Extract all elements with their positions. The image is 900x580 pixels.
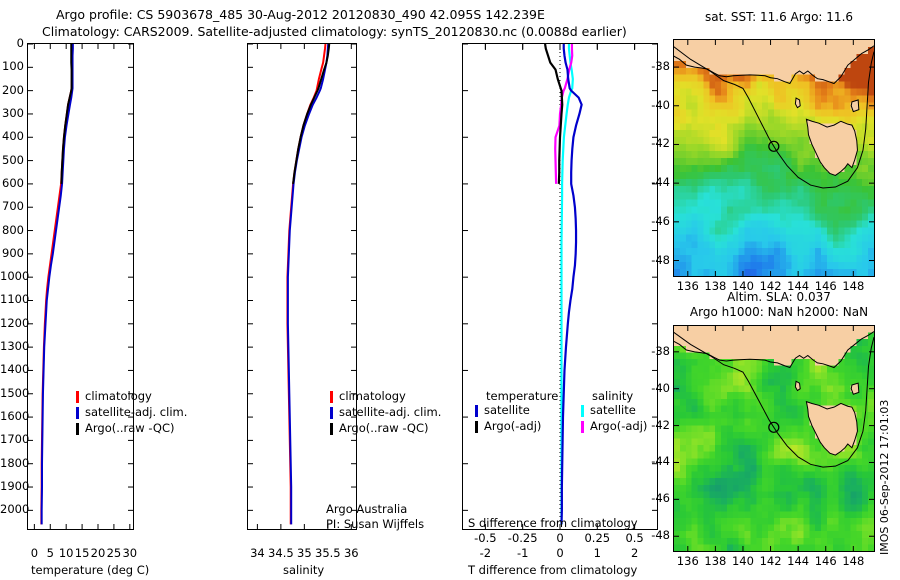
legend-label-satellite-adj-clim: satellite-adj. clim. (85, 405, 187, 419)
axis-tick-label: 1200 (0, 316, 24, 330)
map-axis-tick-label: -42 (644, 418, 670, 432)
axis-tick-label: 36 (344, 546, 359, 560)
axis-tick-label: 0 (0, 36, 24, 50)
axis-tick-label: 20 (91, 546, 106, 560)
legend-label-salinity-argo-adj: Argo(-adj) (590, 419, 647, 433)
legend-swatch-satellite-adj-clim (76, 407, 79, 419)
map-axis-tick-label: 138 (704, 554, 726, 568)
axis-tick-label: 25 (107, 546, 122, 560)
axis-tick-label: 300 (0, 106, 24, 120)
legend-label-salinity-satellite: satellite (590, 403, 636, 417)
map-axis-tick-label: 146 (815, 554, 837, 568)
axis-tick-label: 0 (556, 546, 563, 560)
legend-swatch-argo-raw-qc (330, 423, 333, 435)
axis-tick-label: 2000 (0, 502, 24, 516)
axis-tick-label: 900 (0, 246, 24, 260)
legend-swatch-salinity-satellite (581, 405, 584, 417)
map-axis-tick-label: -40 (644, 98, 670, 112)
map-sla-title-line1: Altim. SLA: 0.037 (673, 290, 885, 304)
axis-tick-label: 100 (0, 59, 24, 73)
map-axis-tick-label: -40 (644, 381, 670, 395)
figure-title-line1: Argo profile: CS 5903678_485 30-Aug-2012… (56, 7, 545, 22)
axis-tick-label: 200 (0, 83, 24, 97)
legend-label-temperature-satellite: satellite (484, 403, 530, 417)
legend-label-temperature-argo-adj: Argo(-adj) (484, 419, 541, 433)
axis-tick-label: 0 (556, 531, 563, 545)
imos-timestamp-footer: IMOS 06-Sep-2012 17:01:03 (878, 385, 891, 555)
map-axis-tick-label: 142 (760, 554, 782, 568)
axis-tick-label: 35 (297, 546, 312, 560)
axis-tick-label: 1500 (0, 386, 24, 400)
axis-tick-label: 1800 (0, 456, 24, 470)
axis-tick-label: 1100 (0, 292, 24, 306)
axis-tick-label: -0.5 (474, 531, 496, 545)
axis-tick-label: 2 (631, 546, 638, 560)
legend-swatch-temperature-argo-adj (475, 421, 478, 433)
axis-tick-label: 1 (594, 546, 601, 560)
map-axis-tick-label: 144 (787, 554, 809, 568)
axis-tick-label: 10 (59, 546, 74, 560)
legend-swatch-salinity-argo-adj (581, 421, 584, 433)
map-axis-tick-label: -44 (644, 175, 670, 189)
temperature-x-axis-label: temperature (deg C) (31, 563, 149, 577)
axis-tick-label: 1600 (0, 409, 24, 423)
legend-swatch-climatology (330, 391, 333, 403)
axis-tick-label: 5 (47, 546, 54, 560)
map-axis-tick-label: -48 (644, 528, 670, 542)
axis-tick-label: -1 (517, 546, 528, 560)
axis-tick-label: -2 (480, 546, 491, 560)
map-axis-tick-label: -48 (644, 253, 670, 267)
axis-tick-label: 0.5 (625, 531, 643, 545)
axis-tick-label: 500 (0, 153, 24, 167)
salinity-profile-panel (247, 43, 357, 530)
axis-tick-label: 35.5 (315, 546, 341, 560)
axis-tick-label: 400 (0, 129, 24, 143)
map-axis-tick-label: -38 (644, 344, 670, 358)
legend-swatch-argo-raw-qc (76, 423, 79, 435)
axis-tick-label: 1000 (0, 269, 24, 283)
salinity-profile-plot (248, 44, 356, 529)
legend-swatch-satellite-adj-clim (330, 407, 333, 419)
map-sst-raster (674, 40, 874, 276)
difference-bottom-axis-label: T difference from climatology (468, 563, 637, 577)
map-axis-tick-label: -42 (644, 136, 670, 150)
axis-tick-label: 0 (31, 546, 38, 560)
map-sla-raster (674, 326, 874, 551)
map-axis-tick-label: -44 (644, 454, 670, 468)
axis-tick-label: 600 (0, 176, 24, 190)
axis-tick-label: 1400 (0, 362, 24, 376)
legend-swatch-temperature-satellite (475, 405, 478, 417)
legend-label-argo-raw-qc: Argo(..raw -QC) (85, 421, 175, 435)
legend-label-satellite-adj-clim: satellite-adj. clim. (339, 405, 441, 419)
map-axis-tick-label: -46 (644, 491, 670, 505)
map-axis-tick-label: 140 (732, 554, 754, 568)
axis-tick-label: 34.5 (268, 546, 294, 560)
legend-label-climatology: climatology (85, 389, 152, 403)
legend-swatch-climatology (76, 391, 79, 403)
temperature-profile-panel (27, 43, 134, 530)
difference-legend-temperature: temperature satellite Argo(-adj) (475, 389, 558, 435)
salinity-x-axis-label: salinity (283, 563, 324, 577)
map-sla-panel (673, 325, 875, 552)
map-sla-title-line2: Argo h1000: NaN h2000: NaN (662, 305, 896, 319)
legend-heading-salinity: salinity (592, 389, 633, 403)
figure-root: Argo profile: CS 5903678_485 30-Aug-2012… (0, 0, 900, 580)
legend-label-climatology: climatology (339, 389, 406, 403)
map-axis-tick-label: -38 (644, 59, 670, 73)
axis-tick-label: 30 (122, 546, 137, 560)
attribution-line1: Argo Australia (326, 502, 407, 516)
map-sst-panel (673, 39, 875, 277)
map-axis-tick-label: 148 (842, 554, 864, 568)
map-sst-title: sat. SST: 11.6 Argo: 11.6 (673, 10, 885, 24)
axis-tick-label: 34 (250, 546, 265, 560)
difference-profile-panel (462, 43, 658, 530)
legend-heading-temperature: temperature (486, 389, 558, 403)
legend-label-argo-raw-qc: Argo(..raw -QC) (339, 421, 429, 435)
difference-top-axis-label: S difference from climatology (468, 516, 638, 530)
axis-tick-label: -0.25 (508, 531, 538, 545)
axis-tick-label: 1700 (0, 432, 24, 446)
axis-tick-label: 1300 (0, 339, 24, 353)
difference-profile-plot (463, 44, 657, 529)
axis-tick-label: 15 (75, 546, 90, 560)
attribution-line2: PI: Susan Wijffels (326, 517, 424, 531)
map-axis-tick-label: 136 (677, 554, 699, 568)
axis-tick-label: 0.25 (584, 531, 610, 545)
temperature-profile-plot (28, 44, 133, 529)
axis-tick-label: 1900 (0, 479, 24, 493)
map-axis-tick-label: -46 (644, 214, 670, 228)
difference-legend-salinity: salinity satellite Argo(-adj) (581, 389, 633, 435)
figure-title-line2: Climatology: CARS2009. Satellite-adjuste… (42, 24, 627, 39)
axis-tick-label: 700 (0, 199, 24, 213)
axis-tick-label: 800 (0, 223, 24, 237)
